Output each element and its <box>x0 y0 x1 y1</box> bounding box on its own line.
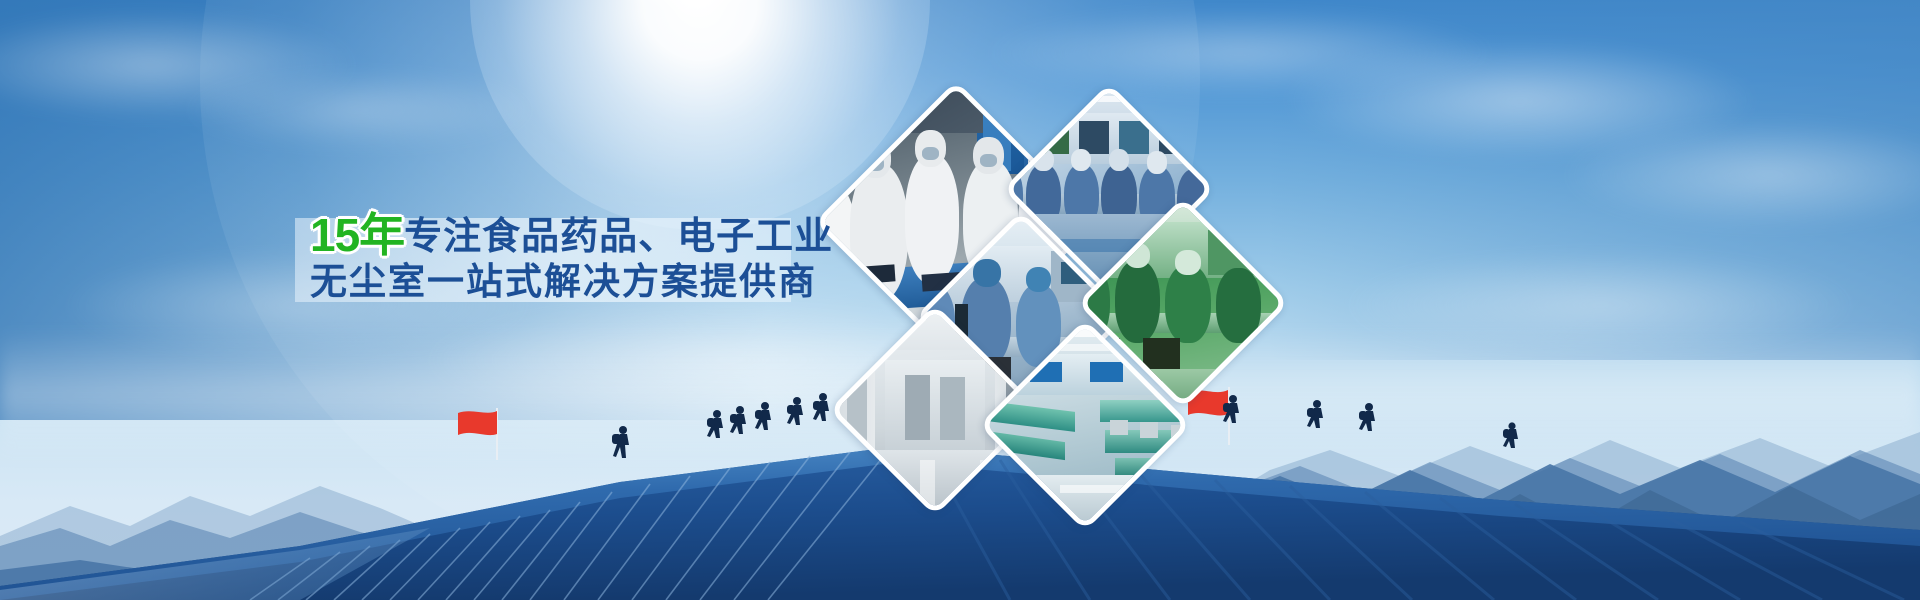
cloud-2 <box>180 70 540 150</box>
climber-1 <box>603 425 643 459</box>
flag-cloth <box>456 410 500 440</box>
climber-10 <box>1352 402 1386 432</box>
climber-11 <box>1300 399 1334 429</box>
diamond-photo-collage <box>838 100 1278 465</box>
headline-line1-rest: 专注食品药品、电子工业 <box>404 218 833 256</box>
cloud-5 <box>980 8 1500 98</box>
hero-banner: 15年 专注食品药品、电子工业 无尘室一站式解决方案提供商 <box>0 0 1920 600</box>
climber-4 <box>748 401 782 431</box>
headline-text-block: 15年 专注食品药品、电子工业 无尘室一站式解决方案提供商 <box>310 200 810 300</box>
headline-line2: 无尘室一站式解决方案提供商 <box>310 263 817 300</box>
climber-12 <box>1497 421 1527 449</box>
summit-flag-left <box>456 408 502 460</box>
years-badge: 15年 <box>310 214 404 256</box>
